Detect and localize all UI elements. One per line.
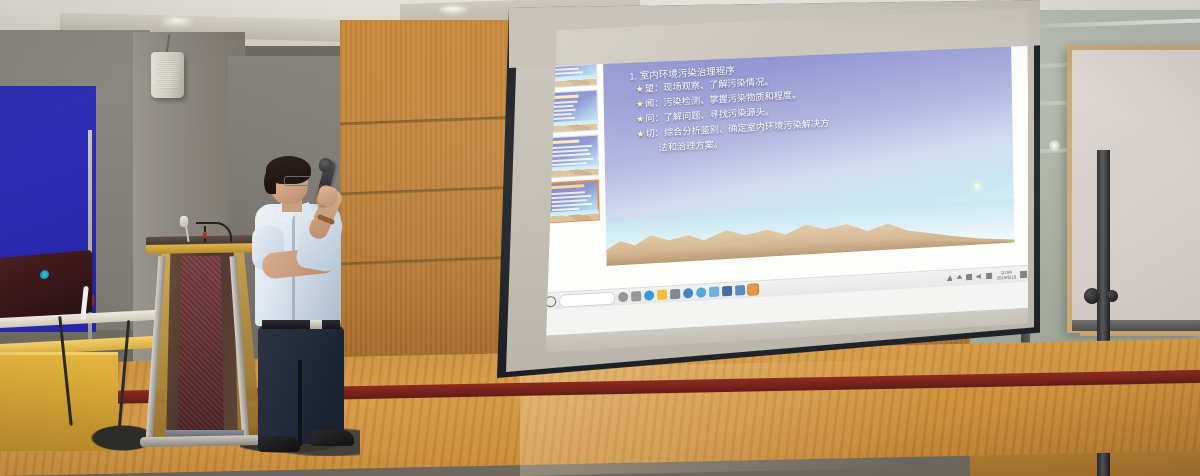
ceiling-light-reflection bbox=[1049, 140, 1060, 151]
volume-icon[interactable] bbox=[977, 273, 983, 279]
presenter-shoe bbox=[310, 430, 354, 446]
presenter-hair-side bbox=[264, 170, 276, 194]
powerpoint-icon[interactable] bbox=[748, 284, 758, 295]
star-icon: ★ bbox=[636, 129, 644, 139]
action-center-icon[interactable] bbox=[1020, 270, 1027, 277]
app-icon[interactable] bbox=[709, 286, 719, 297]
thumbnail-line bbox=[551, 153, 591, 157]
star-icon: ★ bbox=[635, 84, 643, 94]
thumbnail-title-bar bbox=[550, 184, 584, 189]
projection-screen: 三 室内环境污染治理要点 1. 室内环境污染治理程序 ★望：现场观察、了解污染情… bbox=[440, 0, 1040, 380]
downlight-icon bbox=[162, 17, 192, 26]
powerpoint-canvas: 三 室内环境污染治理要点 1. 室内环境污染治理程序 ★望：现场观察、了解污染情… bbox=[536, 0, 1031, 310]
current-slide: 三 室内环境污染治理要点 1. 室内环境污染治理程序 ★望：现场观察、了解污染情… bbox=[603, 17, 1015, 266]
wall-loudspeaker-icon bbox=[151, 52, 184, 98]
presenter-belt bbox=[262, 320, 340, 329]
desert-dunes-graphic bbox=[606, 199, 1015, 266]
sun-icon bbox=[974, 183, 979, 188]
chevron-up-icon[interactable] bbox=[957, 274, 963, 280]
cortana-icon[interactable] bbox=[618, 292, 628, 303]
mic-led-indicator bbox=[203, 232, 207, 238]
desktop-image: 三 室内环境污染治理要点 1. 室内环境污染治理程序 ★望：现场观察、了解污染情… bbox=[536, 0, 1032, 336]
taskbar-clock[interactable]: 10:04 2019/5/19 bbox=[996, 269, 1016, 280]
slide-title: 三 室内环境污染治理要点 bbox=[617, 25, 1001, 63]
excel-icon[interactable] bbox=[735, 285, 745, 296]
windows-taskbar[interactable]: 10:04 2019/5/19 bbox=[541, 265, 1031, 310]
whiteboard-adjust-knob[interactable] bbox=[1084, 288, 1100, 304]
speaker-grille bbox=[157, 60, 178, 89]
mail-icon[interactable] bbox=[683, 288, 693, 299]
explorer-icon[interactable] bbox=[657, 289, 667, 300]
clock-date: 2019/5/19 bbox=[997, 274, 1017, 280]
thumbnail-line bbox=[551, 191, 585, 195]
pen-icon[interactable] bbox=[947, 275, 953, 281]
thumbnail-line bbox=[551, 158, 594, 162]
whiteboard-tray bbox=[1072, 320, 1200, 331]
lectern-front-panel bbox=[178, 256, 224, 434]
thumbnail-dunes bbox=[546, 164, 598, 177]
task-view-icon[interactable] bbox=[631, 291, 641, 302]
word-icon[interactable] bbox=[722, 286, 732, 297]
thumbnail-title-bar bbox=[549, 140, 579, 144]
network-icon[interactable] bbox=[967, 274, 973, 280]
chrome-icon[interactable] bbox=[696, 287, 706, 298]
thumbnail-line bbox=[551, 199, 587, 203]
system-tray[interactable]: 10:04 2019/5/19 bbox=[946, 269, 1027, 284]
laptop-logo-icon bbox=[40, 270, 49, 280]
presenter-leg-seam bbox=[298, 360, 302, 446]
whiteboard-adjust-knob[interactable] bbox=[1106, 290, 1118, 302]
thumbnail-line bbox=[551, 203, 592, 207]
laptop bbox=[0, 250, 92, 320]
thumbnail-dunes bbox=[547, 209, 599, 222]
taskbar-search-input[interactable] bbox=[559, 291, 615, 307]
gooseneck-mic-icon bbox=[180, 216, 188, 227]
store-icon[interactable] bbox=[670, 289, 680, 300]
belt-buckle bbox=[310, 320, 322, 329]
star-icon: ★ bbox=[636, 99, 644, 109]
glasses-icon bbox=[284, 176, 312, 186]
slide-thumbnail-selected[interactable] bbox=[545, 179, 600, 223]
ime-icon[interactable] bbox=[986, 273, 992, 279]
edge-icon[interactable] bbox=[644, 290, 654, 301]
presenter-shoe bbox=[258, 436, 300, 452]
toolbar-chip[interactable] bbox=[836, 0, 848, 1]
thumbnail-line bbox=[551, 149, 589, 153]
star-icon: ★ bbox=[636, 114, 644, 124]
lecture-hall-photo: 三 室内环境污染治理要点 1. 室内环境污染治理程序 ★望：现场观察、了解污染情… bbox=[0, 0, 1200, 476]
